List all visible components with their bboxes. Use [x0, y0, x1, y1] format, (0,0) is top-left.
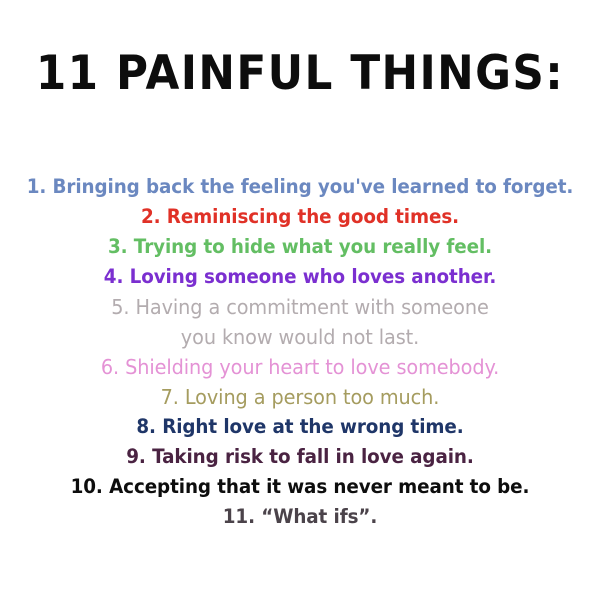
painful-things-list: 1. Bringing back the feeling you've lear…: [0, 172, 600, 532]
list-item-text: 1. Bringing back the feeling you've lear…: [27, 175, 574, 198]
page-title: 11 PAINFUL THINGS:: [21, 48, 579, 100]
poster-canvas: 11 PAINFUL THINGS: 1. Bringing back the …: [0, 0, 600, 600]
list-item: 10. Accepting that it was never meant to…: [18, 472, 582, 502]
list-item: 5. Having a commitment with someone you …: [18, 292, 582, 352]
list-item-text: 5. Having a commitment with someone: [111, 295, 488, 319]
list-item: 8. Right love at the wrong time.: [18, 412, 582, 442]
list-item-text: 2. Reminiscing the good times.: [141, 205, 459, 228]
list-item-text: 11. “What ifs”.: [223, 505, 377, 528]
list-item-text: 7. Loving a person too much.: [161, 385, 440, 409]
list-item-text: 8. Right love at the wrong time.: [136, 415, 463, 438]
list-item: 9. Taking risk to fall in love again.: [18, 442, 582, 472]
list-item-text: 9. Taking risk to fall in love again.: [126, 445, 474, 468]
list-item: 3. Trying to hide what you really feel.: [18, 232, 582, 262]
list-item-text: 6. Shielding your heart to love somebody…: [101, 355, 499, 379]
list-item-text-line2: you know would not last.: [18, 322, 582, 352]
list-item: 4. Loving someone who loves another.: [18, 262, 582, 292]
list-item: 1. Bringing back the feeling you've lear…: [18, 172, 582, 202]
list-item-text: 4. Loving someone who loves another.: [104, 265, 496, 288]
list-item: 7. Loving a person too much.: [18, 382, 582, 412]
list-item-text: 10. Accepting that it was never meant to…: [71, 475, 530, 498]
list-item-text: 3. Trying to hide what you really feel.: [108, 235, 492, 258]
list-item: 11. “What ifs”.: [18, 502, 582, 532]
list-item: 6. Shielding your heart to love somebody…: [18, 352, 582, 382]
list-item: 2. Reminiscing the good times.: [18, 202, 582, 232]
